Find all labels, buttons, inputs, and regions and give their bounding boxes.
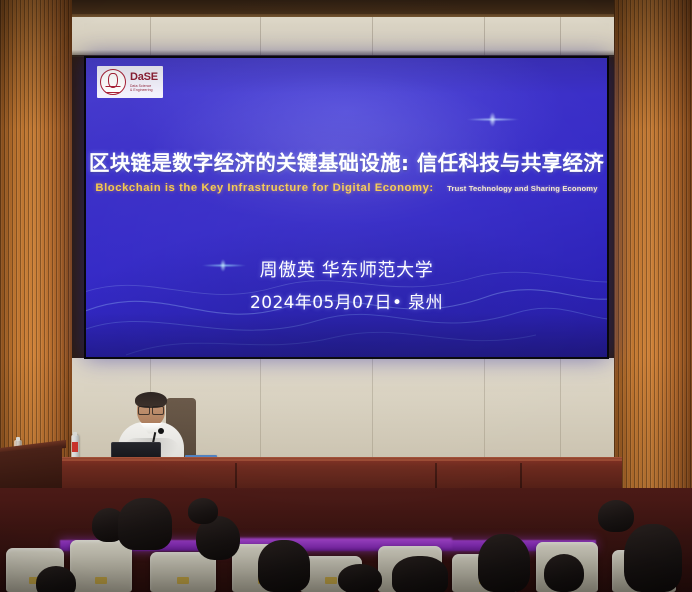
- university-seal-icon: [100, 69, 126, 95]
- sparkle-glow-icon: [466, 118, 520, 121]
- slide-subtitle-main: Blockchain is the Key Infrastructure for…: [95, 182, 433, 194]
- seat-number-tag: [95, 577, 107, 584]
- projection-screen[interactable]: DaSE Data Science & Engineering 区块链是数字经济…: [84, 56, 609, 359]
- dase-logo: DaSE Data Science & Engineering: [97, 66, 163, 98]
- logo-text-block: DaSE Data Science & Engineering: [130, 72, 158, 92]
- presentation-slide: DaSE Data Science & Engineering 区块链是数字经济…: [86, 58, 607, 357]
- audience-head: [258, 540, 310, 592]
- wall-panel-seam: [560, 358, 561, 460]
- slide-date-location: 2024年05月07日• 泉州: [86, 288, 607, 313]
- microphone-icon: [158, 428, 164, 434]
- logo-title: DaSE: [130, 72, 158, 83]
- seat-number-tag: [325, 577, 337, 584]
- audience-head: [118, 498, 172, 550]
- audience-head: [624, 524, 682, 592]
- lecture-hall-photo: DaSE Data Science & Engineering 区块链是数字经济…: [0, 0, 692, 592]
- wall-panel-seam: [372, 358, 373, 460]
- audience-head: [478, 534, 530, 592]
- seat-number-tag: [177, 577, 189, 584]
- audience-head: [392, 556, 448, 592]
- audience-seat: [70, 540, 132, 592]
- slide-subtitle-english: Blockchain is the Key Infrastructure for…: [86, 178, 607, 196]
- slide-subtitle-tail: Trust Technology and Sharing Economy: [447, 184, 597, 193]
- audience-head: [188, 498, 218, 524]
- wall-panel-seam: [484, 358, 485, 460]
- audience-head: [338, 564, 382, 592]
- audience-head: [544, 554, 584, 592]
- audience-head: [598, 500, 634, 532]
- audience-head: [36, 566, 76, 592]
- logo-subtitle-line2: & Engineering: [130, 89, 158, 92]
- slide-presenter: 周傲英 华东师范大学: [86, 256, 607, 282]
- glasses-icon: [138, 406, 164, 413]
- slide-title-chinese: 区块链是数字经济的关键基础设施: 信任科技与共享经济: [86, 146, 607, 176]
- wall-panel-seam: [260, 358, 261, 460]
